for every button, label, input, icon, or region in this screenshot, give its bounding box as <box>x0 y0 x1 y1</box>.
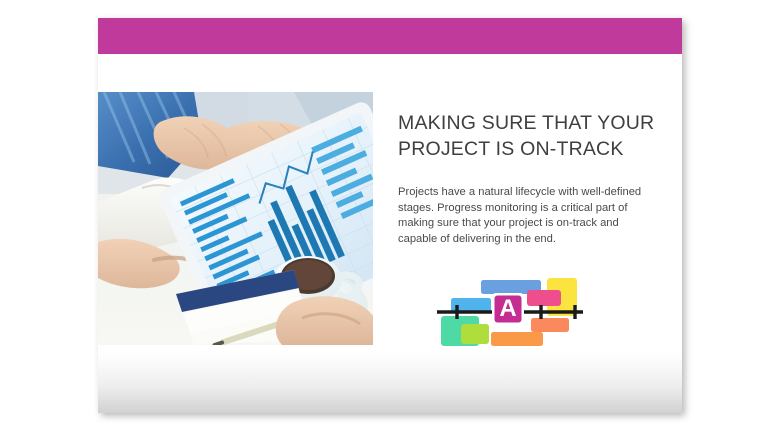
slide-photo-business-tablet <box>98 92 373 345</box>
presentation-slide[interactable]: MAKING SURE THAT YOUR PROJECT IS ON-TRAC… <box>98 18 682 413</box>
slide-body-text: Projects have a natural lifecycle with w… <box>398 162 660 247</box>
slide-footer-band <box>98 350 682 413</box>
project-timeline-icon: A <box>435 266 585 352</box>
bar-orange-bottom <box>491 332 543 346</box>
slide-text-column: MAKING SURE THAT YOUR PROJECT IS ON-TRAC… <box>398 110 660 247</box>
milestone-block-a: A <box>492 293 524 325</box>
slide-title: MAKING SURE THAT YOUR PROJECT IS ON-TRAC… <box>398 110 660 162</box>
slide-header-band <box>98 18 682 54</box>
bar-lime <box>461 324 489 344</box>
bar-orange-right <box>531 318 569 332</box>
milestone-label-a: A <box>499 295 516 322</box>
bar-pink <box>527 290 561 306</box>
screenshot-canvas: MAKING SURE THAT YOUR PROJECT IS ON-TRAC… <box>0 0 770 440</box>
